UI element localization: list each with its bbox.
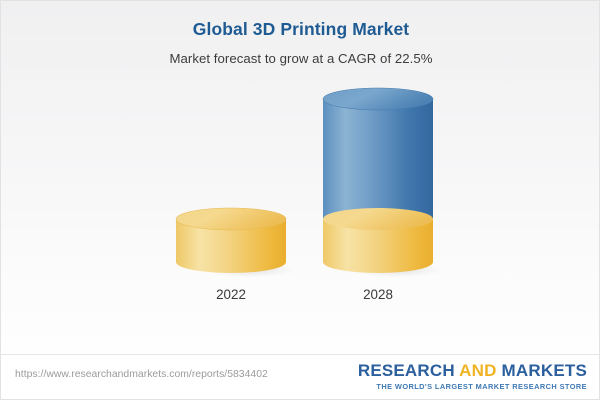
cylinder-top-cap	[323, 88, 433, 110]
cylinder-2022	[176, 208, 308, 284]
logo-word-and: AND	[459, 361, 496, 380]
category-label-2028: 2028	[363, 287, 393, 302]
source-url[interactable]: https://www.researchandmarkets.com/repor…	[15, 369, 268, 380]
cylinder-segment-divider-cap	[323, 208, 433, 230]
cylinder-top-cap	[176, 208, 286, 230]
chart-plot-area: USD 19.8 Billion	[1, 1, 600, 356]
footer-bar: https://www.researchandmarkets.com/repor…	[1, 354, 600, 399]
category-label-2022: 2022	[216, 287, 246, 302]
logo-word-research: RESEARCH	[358, 361, 455, 380]
cylinder-body-growth-segment	[323, 99, 433, 219]
cylinder-2028	[323, 88, 455, 284]
brand-logo[interactable]: RESEARCH AND MARKETS THE WORLD'S LARGEST…	[358, 362, 587, 391]
logo-tagline: THE WORLD'S LARGEST MARKET RESEARCH STOR…	[358, 382, 587, 391]
logo-wordmark: RESEARCH AND MARKETS	[358, 362, 587, 380]
infographic-card: Global 3D Printing Market Market forecas…	[0, 0, 600, 400]
logo-word-markets: MARKETS	[502, 361, 587, 380]
